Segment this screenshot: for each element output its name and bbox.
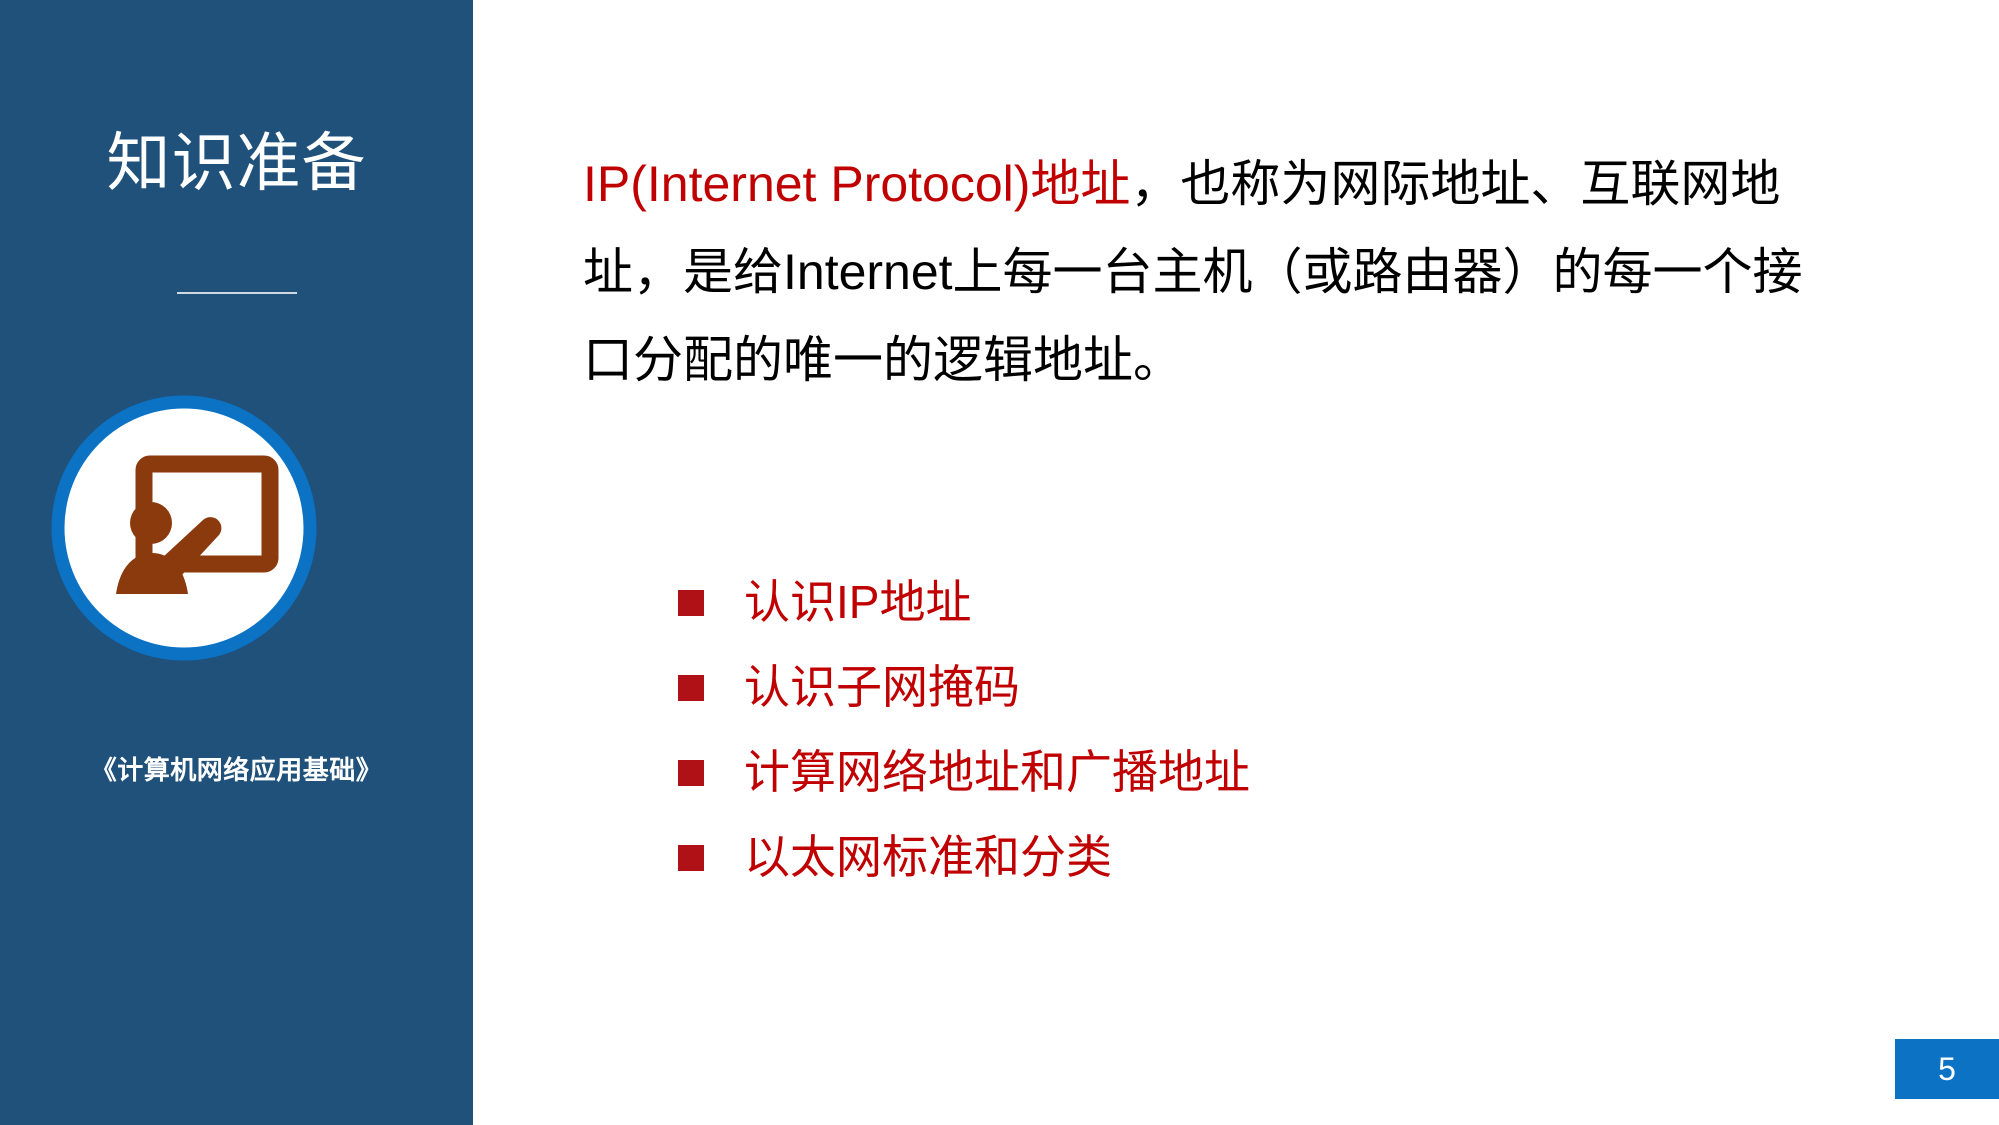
slide: 知识准备 《计算机网络应用基础》 IP(Internet Protocol)地址… xyxy=(0,0,1999,1125)
sidebar-title: 知识准备 xyxy=(0,130,473,197)
list-item[interactable]: 以太网标准和分类 xyxy=(678,815,1778,900)
square-bullet-icon xyxy=(678,845,704,871)
sidebar: 知识准备 《计算机网络应用基础》 xyxy=(0,0,473,1125)
list-item[interactable]: 认识IP地址 xyxy=(678,560,1778,645)
definition-highlight: IP(Internet Protocol)地址 xyxy=(583,156,1130,212)
page-number-badge: 5 xyxy=(1895,1039,1999,1099)
topic-list: 认识IP地址 认识子网掩码 计算网络地址和广播地址 以太网标准和分类 xyxy=(678,560,1778,900)
square-bullet-icon xyxy=(678,675,704,701)
list-item[interactable]: 认识子网掩码 xyxy=(678,645,1778,730)
list-item-label: 认识子网掩码 xyxy=(744,662,1020,713)
main-content: IP(Internet Protocol)地址，也称为网际地址、互联网地址，是给… xyxy=(473,0,1999,1125)
sidebar-footer-book-title: 《计算机网络应用基础》 xyxy=(0,750,473,787)
square-bullet-icon xyxy=(678,760,704,786)
list-item[interactable]: 计算网络地址和广播地址 xyxy=(678,730,1778,815)
definition-paragraph: IP(Internet Protocol)地址，也称为网际地址、互联网地址，是给… xyxy=(583,140,1833,404)
list-item-label: 认识IP地址 xyxy=(744,577,971,628)
teacher-whiteboard-icon xyxy=(48,392,320,664)
sidebar-divider xyxy=(177,292,297,294)
list-item-label: 以太网标准和分类 xyxy=(744,832,1112,883)
list-item-label: 计算网络地址和广播地址 xyxy=(744,747,1250,798)
square-bullet-icon xyxy=(678,590,704,616)
